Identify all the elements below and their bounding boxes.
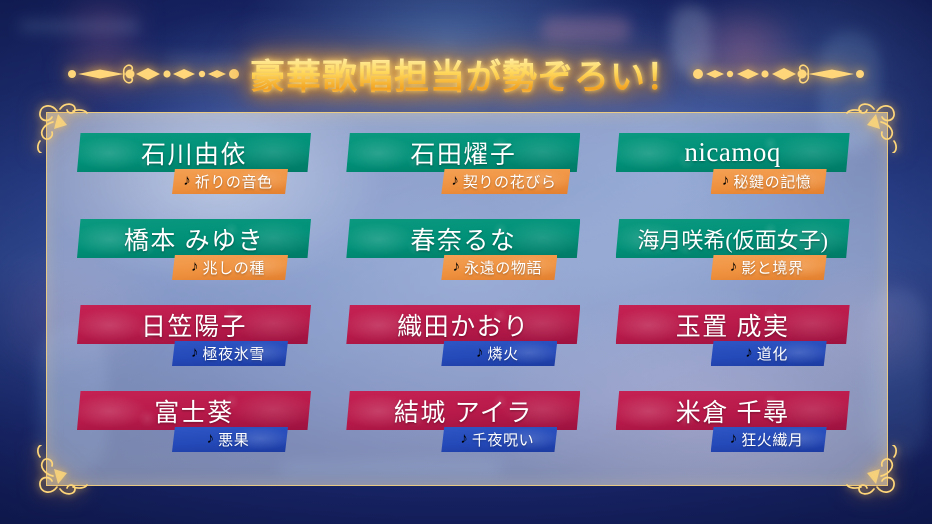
performer-name: nicamoq — [684, 137, 780, 168]
performer-name: 橋本 みゆき — [124, 221, 264, 257]
performer-song: 秘鍵の記憶 — [733, 171, 811, 192]
performer-card[interactable]: 春奈るな ♪ 永遠の物語 — [334, 213, 599, 299]
performer-name: 春奈るな — [410, 221, 516, 257]
performer-name-band: 橋本 みゆき — [77, 219, 311, 258]
performer-card[interactable]: 織田かおり ♪ 燐火 — [334, 299, 599, 385]
page-title: 豪華歌唱担当が勢ぞろい！ — [250, 49, 682, 100]
announcement-slide: 豪華歌唱担当が勢ぞろい！ — [0, 0, 932, 524]
performer-song-band: ♪ 悪果 — [172, 427, 288, 452]
performer-song-band: ♪ 道化 — [711, 341, 827, 366]
music-note-icon: ♪ — [191, 259, 199, 276]
performer-name-band: 米倉 千尋 — [616, 391, 850, 430]
performer-song: 燐火 — [487, 343, 518, 364]
performer-song: 千夜呪い — [472, 429, 534, 450]
performer-name-band: 結城 アイラ — [346, 391, 580, 430]
performer-grid: 石川由依 ♪ 祈りの音色 石田燿子 ♪ 契りの花びら nicamoq — [65, 127, 869, 471]
music-note-icon: ♪ — [730, 431, 738, 448]
performer-song-band: ♪ 秘鍵の記憶 — [711, 169, 827, 194]
performer-song: 道化 — [757, 343, 788, 364]
performer-song: 永遠の物語 — [464, 257, 542, 278]
music-note-icon: ♪ — [722, 173, 730, 190]
performer-card[interactable]: 石川由依 ♪ 祈りの音色 — [65, 127, 330, 213]
music-note-icon: ♪ — [745, 345, 753, 362]
performer-name: 石川由依 — [141, 135, 247, 171]
performer-name: 結城 アイラ — [394, 393, 533, 429]
music-note-icon: ♪ — [451, 173, 459, 190]
performer-song-band: ♪ 契りの花びら — [441, 169, 570, 194]
performer-card[interactable]: 富士葵 ♪ 悪果 — [65, 385, 330, 471]
performer-card[interactable]: 玉置 成実 ♪ 道化 — [604, 299, 869, 385]
performer-card[interactable]: 結城 アイラ ♪ 千夜呪い — [334, 385, 599, 471]
performer-name: 富士葵 — [154, 393, 234, 429]
music-note-icon: ♪ — [460, 431, 468, 448]
music-note-icon: ♪ — [207, 431, 215, 448]
performer-song-band: ♪ 祈りの音色 — [172, 169, 288, 194]
music-note-icon: ♪ — [730, 259, 738, 276]
performer-song: 悪果 — [218, 429, 249, 450]
performer-song: 契りの花びら — [463, 171, 557, 192]
performer-name-band: nicamoq — [616, 133, 850, 172]
flourish-ornament-left — [64, 61, 240, 87]
performer-song: 祈りの音色 — [195, 171, 273, 192]
performer-name-band: 日笠陽子 — [77, 305, 311, 344]
performer-song: 兆しの種 — [203, 257, 265, 278]
performer-panel: 石川由依 ♪ 祈りの音色 石田燿子 ♪ 契りの花びら nicamoq — [46, 112, 888, 486]
performer-name-band: 春奈るな — [346, 219, 580, 258]
performer-song: 影と境界 — [741, 257, 803, 278]
performer-card[interactable]: 橋本 みゆき ♪ 兆しの種 — [65, 213, 330, 299]
performer-card[interactable]: 日笠陽子 ♪ 極夜氷雪 — [65, 299, 330, 385]
performer-song-band: ♪ 千夜呪い — [441, 427, 557, 452]
performer-card[interactable]: 米倉 千尋 ♪ 狂火繊月 — [604, 385, 869, 471]
title-row: 豪華歌唱担当が勢ぞろい！ — [0, 46, 932, 102]
performer-card[interactable]: 海月咲希(仮面女子) ♪ 影と境界 — [604, 213, 869, 299]
performer-song-band: ♪ 狂火繊月 — [711, 427, 827, 452]
performer-name-band: 海月咲希(仮面女子) — [616, 219, 850, 258]
flourish-ornament-right — [692, 61, 868, 87]
performer-name: 玉置 成実 — [676, 307, 790, 343]
performer-card[interactable]: nicamoq ♪ 秘鍵の記憶 — [604, 127, 869, 213]
performer-song: 狂火繊月 — [741, 429, 803, 450]
performer-name-band: 石川由依 — [77, 133, 311, 172]
performer-name-band: 玉置 成実 — [616, 305, 850, 344]
performer-song-band: ♪ 影と境界 — [711, 255, 827, 280]
performer-name-band: 石田燿子 — [346, 133, 580, 172]
music-note-icon: ♪ — [476, 345, 484, 362]
performer-song-band: ♪ 永遠の物語 — [441, 255, 557, 280]
music-note-icon: ♪ — [453, 259, 461, 276]
music-note-icon: ♪ — [183, 173, 191, 190]
performer-song-band: ♪ 極夜氷雪 — [172, 341, 288, 366]
performer-name: 日笠陽子 — [141, 307, 247, 343]
performer-name: 織田かおり — [397, 307, 530, 343]
music-note-icon: ♪ — [191, 345, 199, 362]
performer-name: 石田燿子 — [410, 135, 516, 171]
performer-name-band: 織田かおり — [346, 305, 580, 344]
performer-song-band: ♪ 燐火 — [441, 341, 557, 366]
performer-name: 米倉 千尋 — [676, 393, 790, 429]
performer-name: 海月咲希(仮面女子) — [637, 223, 828, 255]
performer-name-band: 富士葵 — [77, 391, 311, 430]
performer-card[interactable]: 石田燿子 ♪ 契りの花びら — [334, 127, 599, 213]
performer-song-band: ♪ 兆しの種 — [172, 255, 288, 280]
performer-song: 極夜氷雪 — [203, 343, 265, 364]
